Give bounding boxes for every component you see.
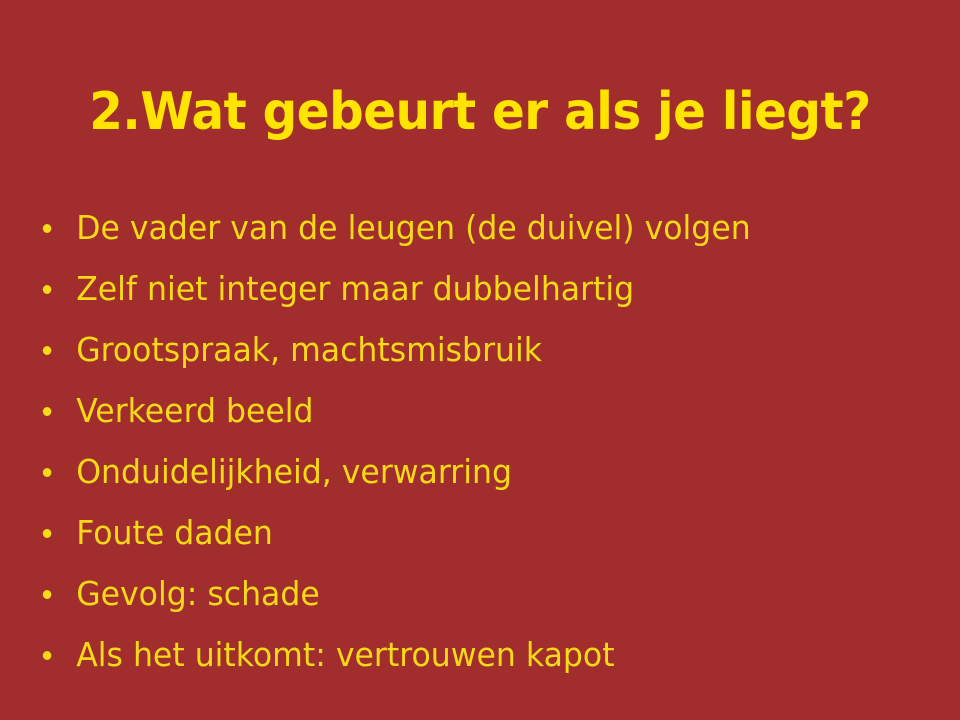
list-item: Als het uitkomt: vertrouwen kapot: [38, 631, 896, 692]
bullet-dot-icon: [43, 651, 52, 660]
bullet-dot-icon: [43, 407, 52, 416]
bullet-list: De vader van de leugen (de duivel) volge…: [38, 204, 936, 692]
bullet-dot-icon: [43, 224, 52, 233]
list-item: Onduidelijkheid, verwarring: [38, 448, 896, 509]
bullet-dot-icon: [43, 346, 52, 355]
list-item: Grootspraak, machtsmisbruik: [38, 326, 896, 387]
list-item: Foute daden: [38, 509, 896, 570]
list-item-label: Verkeerd beeld: [76, 387, 313, 435]
list-item-label: Onduidelijkheid, verwarring: [76, 448, 512, 496]
bullet-dot-icon: [43, 529, 52, 538]
slide-canvas: 2.Wat gebeurt er als je liegt? De vader …: [0, 0, 960, 720]
bullet-dot-icon: [43, 285, 52, 294]
bullet-dot-icon: [43, 468, 52, 477]
list-item-label: De vader van de leugen (de duivel) volge…: [76, 204, 750, 252]
list-item-label: Gevolg: schade: [76, 570, 320, 618]
list-item-label: Zelf niet integer maar dubbelhartig: [76, 265, 634, 313]
list-item-label: Grootspraak, machtsmisbruik: [76, 326, 542, 374]
list-item-label: Als het uitkomt: vertrouwen kapot: [76, 631, 614, 679]
list-item-label: Foute daden: [76, 509, 273, 557]
list-item: Zelf niet integer maar dubbelhartig: [38, 265, 896, 326]
bullet-dot-icon: [43, 590, 52, 599]
list-item: De vader van de leugen (de duivel) volge…: [38, 204, 896, 265]
list-item: Verkeerd beeld: [38, 387, 896, 448]
list-item: Gevolg: schade: [38, 570, 896, 631]
page-title: 2.Wat gebeurt er als je liegt?: [34, 83, 927, 143]
